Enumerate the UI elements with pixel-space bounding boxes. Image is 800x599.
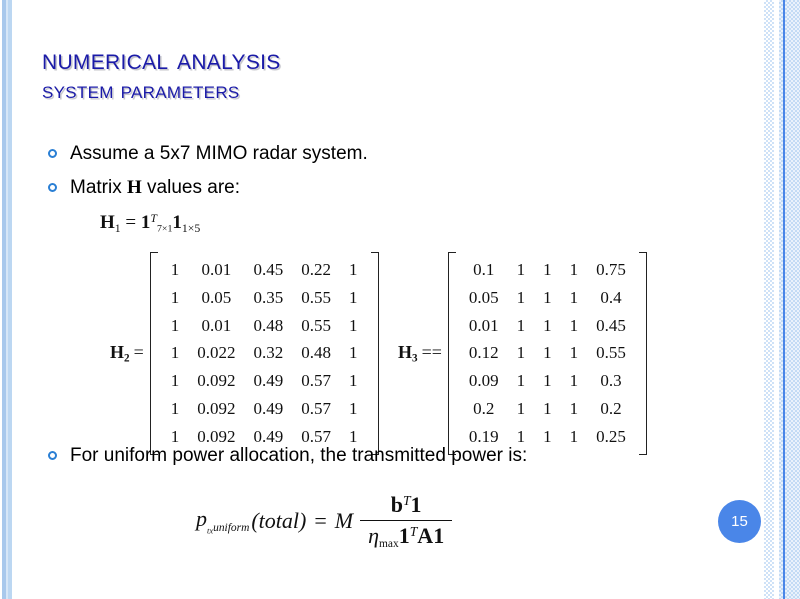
bullet-circle-icon <box>48 183 57 192</box>
matrix-cell: 0.01 <box>460 312 508 340</box>
matrix-cell: 1 <box>534 256 561 284</box>
bullet-item-3: For uniform power allocation, the transm… <box>48 444 527 468</box>
matrix-cell: 1 <box>508 395 535 423</box>
formula-den-A: A <box>417 523 433 548</box>
formula-lhs-sub: txuniform <box>207 522 249 534</box>
bullet-text-2-symbol: H <box>127 177 142 198</box>
matrix-h2-brackets: 10.010.450.22110.050.350.55110.010.480.5… <box>150 252 379 455</box>
bullet-circle-icon <box>48 149 57 158</box>
equation-h1: H1 = 1T7×111×5 <box>100 212 200 236</box>
eq-h1-equals: = <box>125 212 136 233</box>
bullet-text-3: For uniform power allocation, the transm… <box>70 444 527 468</box>
matrix-cell: 0.4 <box>587 284 635 312</box>
bullet-item-2: Matrix H values are: <box>48 176 240 200</box>
matrix-h2-label-base: H <box>110 342 124 362</box>
eq-h1-lhs-sub: 1 <box>115 222 121 235</box>
matrix-h3-label: H3== <box>398 342 442 365</box>
matrix-cell: 1 <box>508 339 535 367</box>
matrix-cell: 1 <box>561 256 588 284</box>
matrix-h2-label: H2= <box>110 342 144 365</box>
matrix-cell: 0.55 <box>292 284 340 312</box>
matrix-cell: 1 <box>508 256 535 284</box>
left-decorative-border <box>0 0 18 599</box>
matrix-row: 10.010.450.221 <box>162 256 367 284</box>
formula-numerator: bT1 <box>383 492 430 520</box>
matrix-h2-equals: = <box>134 342 144 362</box>
matrix-row: 0.11110.75 <box>460 256 635 284</box>
matrix-cell: 1 <box>561 395 588 423</box>
matrix-h3: H3== 0.11110.750.051110.40.011110.450.12… <box>398 252 647 455</box>
formula-num-sup: T <box>403 493 411 508</box>
matrix-h2-table: 10.010.450.22110.050.350.55110.010.480.5… <box>162 256 367 451</box>
matrix-cell: 0.09 <box>460 367 508 395</box>
eq-h1-term1-base: 1 <box>141 212 151 233</box>
formula-denominator: ηmax1TA1 <box>360 520 452 550</box>
page-subtitle: System Parameters <box>42 78 281 104</box>
matrix-row: 0.091110.3 <box>460 367 635 395</box>
matrix-cell: 1 <box>561 367 588 395</box>
right-border-accent-line <box>783 0 785 599</box>
formula-lhs: ptxuniform <box>196 506 249 535</box>
matrix-cell: 0.48 <box>245 312 293 340</box>
matrix-cell: 0.35 <box>245 284 293 312</box>
formula-num-b: b <box>391 492 403 517</box>
matrix-cell: 0.05 <box>188 284 244 312</box>
matrix-cell: 1 <box>340 339 367 367</box>
matrix-cell: 1 <box>340 256 367 284</box>
matrix-cell: 0.45 <box>245 256 293 284</box>
matrix-cell: 0.092 <box>188 395 244 423</box>
matrix-cell: 1 <box>534 339 561 367</box>
matrix-h3-equals: == <box>422 342 442 362</box>
matrix-cell: 1 <box>534 423 561 451</box>
matrix-cell: 1 <box>534 367 561 395</box>
matrix-cell: 0.57 <box>292 395 340 423</box>
matrix-cell: 1 <box>340 367 367 395</box>
matrix-cell: 1 <box>508 284 535 312</box>
eq-h1-term1-sub: 7×1 <box>157 223 172 234</box>
matrix-row: 10.0920.490.571 <box>162 367 367 395</box>
matrix-cell: 0.1 <box>460 256 508 284</box>
matrix-cell: 1 <box>162 395 189 423</box>
matrix-row: 10.0220.320.481 <box>162 339 367 367</box>
matrix-cell: 0.022 <box>188 339 244 367</box>
matrix-cell: 1 <box>162 339 189 367</box>
formula-lhs-sub-uniform: uniform <box>213 522 249 534</box>
eq-h1-lhs: H <box>100 212 115 233</box>
formula-den-eta: η <box>368 523 379 548</box>
matrix-cell: 1 <box>561 284 588 312</box>
matrix-cell: 0.12 <box>460 339 508 367</box>
matrix-row: 0.011110.45 <box>460 312 635 340</box>
page-title: Numerical Analysis <box>42 44 281 76</box>
matrix-cell: 0.48 <box>292 339 340 367</box>
bullet-item-1: Assume a 5x7 MIMO radar system. <box>48 142 368 166</box>
bullet-text-2-after: values are: <box>142 177 240 198</box>
page-number-badge: 15 <box>718 500 761 543</box>
matrix-cell: 1 <box>561 339 588 367</box>
matrix-cell: 0.092 <box>188 367 244 395</box>
formula-den-one2: 1 <box>433 523 444 548</box>
matrix-h2: H2= 10.010.450.22110.050.350.55110.010.4… <box>110 252 379 455</box>
matrix-cell: 1 <box>162 367 189 395</box>
matrix-cell: 0.49 <box>245 395 293 423</box>
matrix-cell: 1 <box>534 395 561 423</box>
matrix-cell: 1 <box>508 312 535 340</box>
matrix-cell: 1 <box>508 367 535 395</box>
matrix-cell: 0.75 <box>587 256 635 284</box>
matrix-cell: 0.22 <box>292 256 340 284</box>
matrix-cell: 1 <box>561 312 588 340</box>
matrix-cell: 1 <box>162 312 189 340</box>
matrix-cell: 0.55 <box>292 312 340 340</box>
matrix-row: 10.010.480.551 <box>162 312 367 340</box>
matrix-cell: 1 <box>340 284 367 312</box>
matrix-cell: 1 <box>534 312 561 340</box>
matrix-row: 0.121110.55 <box>460 339 635 367</box>
right-border-checker-outer <box>764 0 774 599</box>
matrix-h3-brackets: 0.11110.750.051110.40.011110.450.121110.… <box>448 252 647 455</box>
matrix-cell: 1 <box>561 423 588 451</box>
matrix-cell: 0.2 <box>587 395 635 423</box>
matrix-cell: 0.2 <box>460 395 508 423</box>
formula-fraction: bT1 ηmax1TA1 <box>360 492 452 550</box>
formula-coefficient: M <box>335 508 353 534</box>
matrix-cell: 0.01 <box>188 256 244 284</box>
formula-lhs-base: p <box>196 506 207 531</box>
formula-den-one: 1 <box>399 523 410 548</box>
matrix-cell: 1 <box>162 256 189 284</box>
matrix-cell: 0.45 <box>587 312 635 340</box>
matrix-cell: 1 <box>340 312 367 340</box>
eq-h1-term2-sub: 1×5 <box>182 222 200 235</box>
matrix-cell: 1 <box>162 284 189 312</box>
bullet-circle-icon <box>48 451 57 460</box>
matrix-cell: 0.3 <box>587 367 635 395</box>
matrix-cell: 0.55 <box>587 339 635 367</box>
matrix-cell: 0.25 <box>587 423 635 451</box>
matrix-row: 0.21110.2 <box>460 395 635 423</box>
matrix-row: 0.051110.4 <box>460 284 635 312</box>
matrix-h2-label-sub: 2 <box>124 353 130 365</box>
eq-h1-term2-base: 1 <box>172 212 182 233</box>
slide-title-block: Numerical Analysis System Parameters <box>42 44 281 105</box>
matrix-cell: 0.57 <box>292 367 340 395</box>
matrix-cell: 1 <box>340 395 367 423</box>
matrix-h3-label-base: H <box>398 342 412 362</box>
bullet-text-1: Assume a 5x7 MIMO radar system. <box>70 142 368 166</box>
formula-equals: = <box>314 508 326 534</box>
matrix-cell: 0.01 <box>188 312 244 340</box>
bullet-text-2: Matrix H values are: <box>70 176 240 200</box>
matrix-cell: 0.49 <box>245 367 293 395</box>
right-decorative-border <box>764 0 800 599</box>
matrix-cell: 0.32 <box>245 339 293 367</box>
matrix-h3-table: 0.11110.750.051110.40.011110.450.121110.… <box>460 256 635 451</box>
bullet-text-2-before: Matrix <box>70 177 127 198</box>
matrix-row: 10.0920.490.571 <box>162 395 367 423</box>
matrix-cell: 0.05 <box>460 284 508 312</box>
matrix-h3-label-sub: 3 <box>412 353 418 365</box>
presentation-slide: Numerical Analysis System Parameters Ass… <box>0 0 800 599</box>
formula-num-one: 1 <box>411 492 422 517</box>
matrix-cell: 1 <box>534 284 561 312</box>
equation-transmitted-power: ptxuniform (total) = M bT1 ηmax1TA1 <box>196 492 452 550</box>
formula-argument: (total) <box>251 508 306 534</box>
matrix-row: 10.050.350.551 <box>162 284 367 312</box>
formula-den-eta-sub: max <box>379 538 399 550</box>
